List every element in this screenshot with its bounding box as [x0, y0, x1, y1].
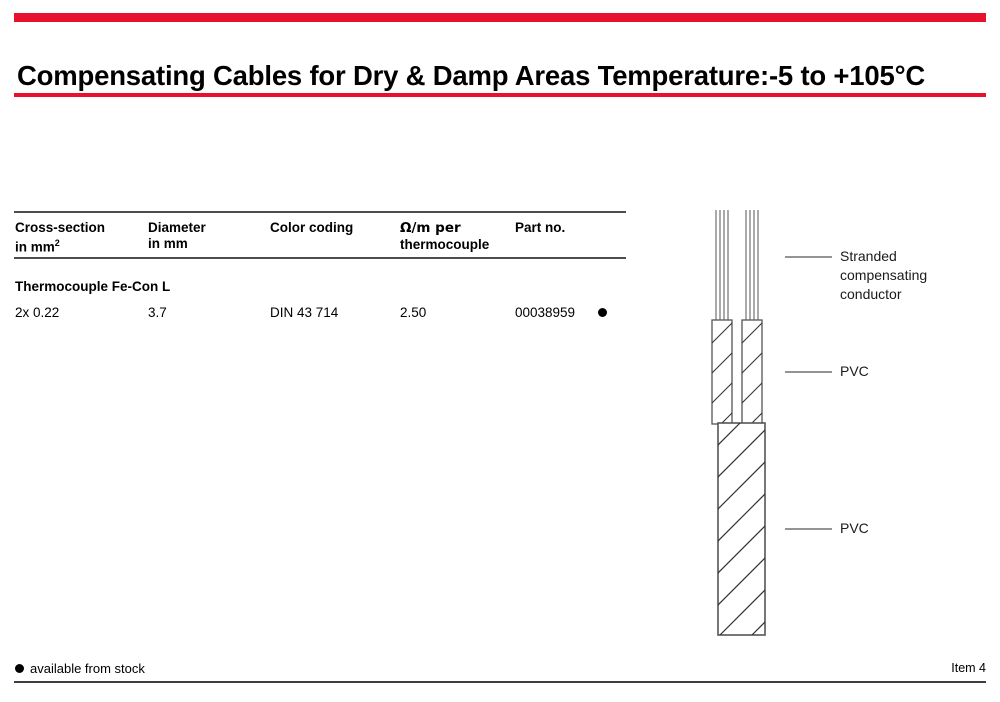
- header-accent-bar-top: [14, 13, 986, 22]
- table-header-cross-section: Cross-sectionin mm2: [15, 220, 105, 255]
- table-cell-ohms: 2.50: [400, 305, 426, 321]
- in-stock-dot-icon: [598, 308, 607, 317]
- diagram-label-pvc-inner: PVC: [840, 362, 869, 381]
- cross-section-unit-superscript: 2: [55, 238, 60, 248]
- diagram-label-stranded-conductor: Stranded compensating conductor: [840, 247, 927, 304]
- table-cell-diameter: 3.7: [148, 305, 167, 321]
- page-title: Compensating Cables for Dry & Damp Areas…: [17, 60, 983, 92]
- table-cell-part-no: 00038959: [515, 305, 575, 321]
- table-row: 2x 0.22: [15, 305, 59, 321]
- table-group-label: Thermocouple Fe-Con L: [15, 279, 170, 294]
- table-rule-top: [14, 211, 626, 213]
- table-rule-header: [14, 257, 626, 259]
- footer-rule: [14, 681, 986, 683]
- header-accent-bar-bottom: [14, 93, 986, 97]
- table-cell-color-coding: DIN 43 714: [270, 305, 338, 321]
- diagram-label-pvc-outer: PVC: [840, 519, 869, 538]
- table-header-ohms-per-thermocouple: Ω/m perthermocouple: [400, 220, 489, 252]
- table-header-color-coding: Color coding: [270, 220, 353, 236]
- footer-stock-note: available from stock: [30, 661, 145, 676]
- table-header-part-no: Part no.: [515, 220, 565, 236]
- table-header-diameter: Diameterin mm: [148, 220, 206, 251]
- footer-item-number: Item 4: [951, 661, 986, 675]
- footer-stock-dot-icon: [15, 664, 24, 673]
